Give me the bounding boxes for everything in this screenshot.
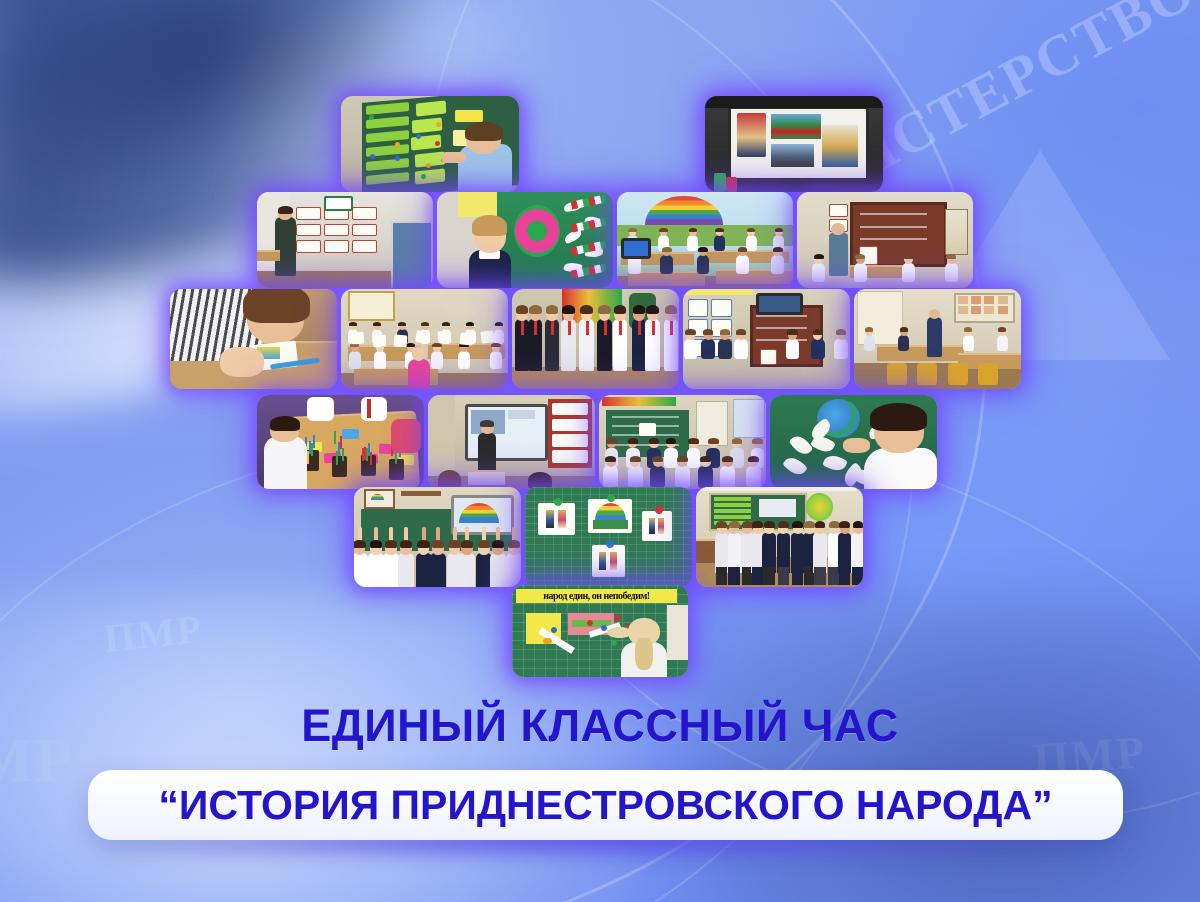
collage-row [257, 192, 973, 288]
collage-photo[interactable] [525, 487, 692, 587]
photo-scene [428, 395, 595, 489]
photo-scene: народ един, он непобедим! [512, 585, 688, 677]
collage-photo[interactable] [341, 289, 508, 389]
collage-row [354, 487, 863, 587]
collage-photo[interactable] [257, 395, 424, 489]
photo-scene [525, 487, 692, 587]
photo-scene [705, 96, 883, 192]
photo-scene [341, 289, 508, 389]
collage-row [341, 96, 883, 192]
photo-scene [170, 289, 337, 389]
collage-photo[interactable] [705, 96, 883, 192]
photo-scene [617, 192, 793, 288]
collage-row [170, 289, 1021, 389]
photo-scene [683, 289, 850, 389]
collage-photo[interactable] [599, 395, 766, 489]
collage-photo[interactable] [617, 192, 793, 288]
photo-scene [257, 192, 433, 288]
collage-row [257, 395, 937, 489]
collage-photo[interactable] [257, 192, 433, 288]
collage-photo[interactable] [428, 395, 595, 489]
collage-photo[interactable] [437, 192, 613, 288]
photo-scene [341, 96, 519, 192]
subtitle-banner: “ИСТОРИЯ ПРИДНЕСТРОВСКОГО НАРОДА” [88, 770, 1123, 840]
collage-photo[interactable]: народ един, он непобедим! [512, 585, 688, 677]
photo-scene [797, 192, 973, 288]
collage-photo[interactable] [696, 487, 863, 587]
photo-banner-text: народ един, он непобедим! [543, 591, 649, 602]
photo-collage: народ един, он непобедим! [0, 0, 1200, 690]
collage-spacer [523, 96, 701, 97]
page-title: ЕДИНЫЙ КЛАССНЫЙ ЧАС [0, 700, 1200, 752]
collage-photo[interactable] [683, 289, 850, 389]
collage-photo[interactable] [770, 395, 937, 489]
photo-scene [770, 395, 937, 489]
collage-photo[interactable] [354, 487, 521, 587]
photo-scene [512, 289, 679, 389]
photo-scene [354, 487, 521, 587]
collage-photo[interactable] [341, 96, 519, 192]
collage-photo[interactable] [512, 289, 679, 389]
photo-scene [257, 395, 424, 489]
photo-scene [437, 192, 613, 288]
collage-photo[interactable] [797, 192, 973, 288]
poster-canvas: НИСТЕРСТВО МР ПМР ПМР народ един, он неп… [0, 0, 1200, 902]
photo-scene [854, 289, 1021, 389]
collage-row: народ един, он непобедим! [512, 585, 688, 677]
photo-scene [599, 395, 766, 489]
collage-photo[interactable] [170, 289, 337, 389]
collage-photo[interactable] [854, 289, 1021, 389]
subtitle-text: “ИСТОРИЯ ПРИДНЕСТРОВСКОГО НАРОДА” [158, 782, 1052, 829]
photo-scene [696, 487, 863, 587]
